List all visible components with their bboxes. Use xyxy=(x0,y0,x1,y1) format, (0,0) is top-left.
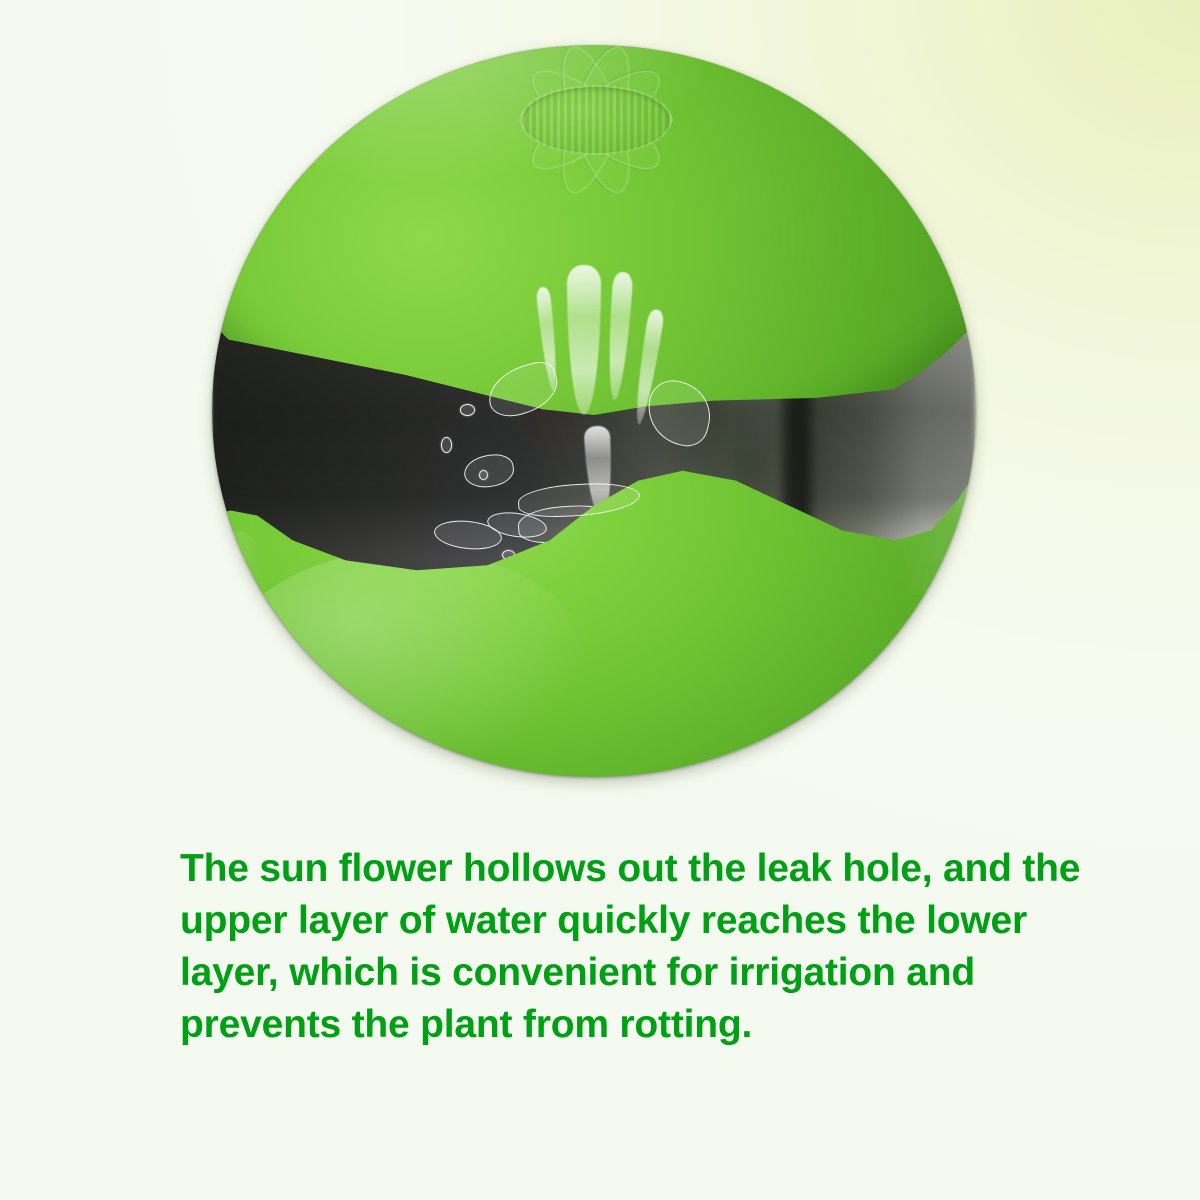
product-photo xyxy=(212,45,976,777)
sunflower-drain-grate xyxy=(429,45,759,193)
product-feature-banner: The sun flower hollows out the leak hole… xyxy=(0,0,1200,1200)
feature-caption: The sun flower hollows out the leak hole… xyxy=(180,843,1120,1051)
flower-core-vents xyxy=(520,85,672,155)
product-photo-circle-frame xyxy=(212,45,976,777)
